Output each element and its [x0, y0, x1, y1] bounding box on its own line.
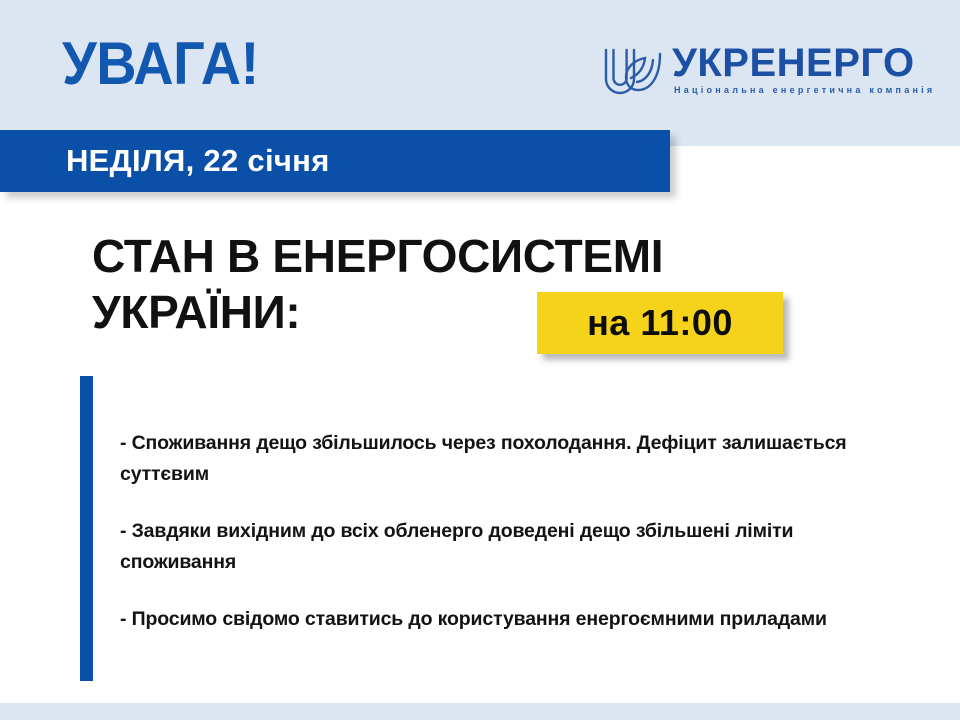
ukrenergo-leaf-mark: [600, 44, 666, 102]
accent-bar: [80, 376, 93, 681]
list-item: - Завдяки вихідним до всіх обленерго дов…: [120, 516, 880, 578]
date-label: НЕДІЛЯ, 22 січня: [66, 144, 330, 178]
footer-strip: [0, 703, 960, 720]
time-badge-label: на 11:00: [587, 304, 733, 342]
poster-canvas: УВАГА! УКРЕНЕРГО Національна енергетична…: [0, 0, 960, 720]
page-title: УВАГА!: [62, 34, 259, 94]
time-badge: на 11:00: [537, 292, 783, 354]
list-item: - Просимо свідомо ставитись до користува…: [120, 604, 880, 635]
date-banner: НЕДІЛЯ, 22 січня: [0, 130, 670, 192]
ukrenergo-logo: УКРЕНЕРГО Національна енергетична компан…: [600, 42, 920, 108]
logo-wordmark: УКРЕНЕРГО: [672, 42, 915, 84]
list-item: - Споживання дещо збільшилось через похо…: [120, 428, 880, 490]
bullet-list: - Споживання дещо збільшилось через похо…: [120, 408, 880, 635]
logo-tagline: Національна енергетична компанія: [674, 85, 935, 96]
